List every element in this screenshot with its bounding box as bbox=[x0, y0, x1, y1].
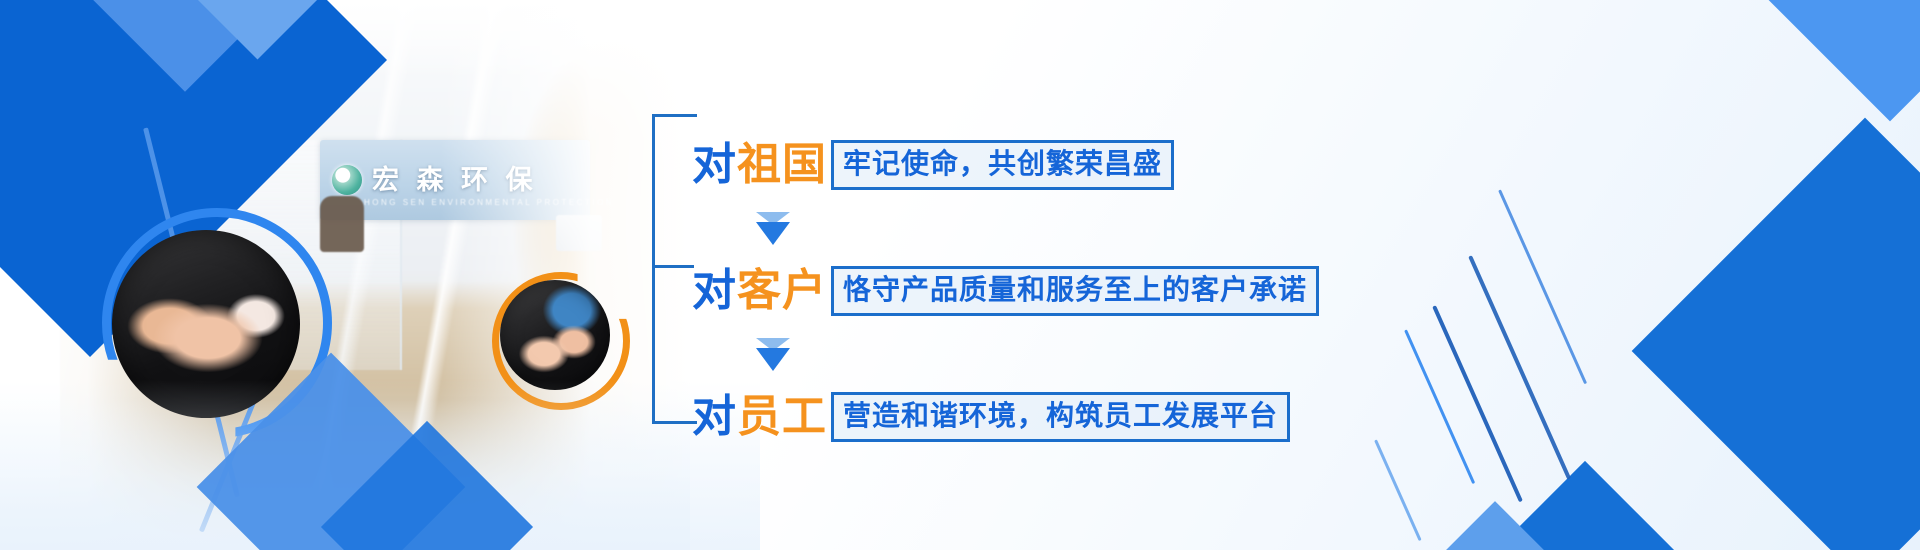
value-prefix-orange: 祖国 bbox=[737, 139, 827, 190]
down-triangle-icon bbox=[756, 348, 790, 371]
value-prefix-orange: 员工 bbox=[737, 391, 827, 442]
values-list: 对祖国 牢记使命，共创繁荣昌盛 对客户 恪守产品质量和服务至上的客户承诺 对员工… bbox=[652, 62, 1852, 492]
staff-silhouette bbox=[320, 196, 364, 252]
value-prefix: 对员工 bbox=[692, 395, 827, 439]
bracket-connector bbox=[652, 114, 697, 424]
value-prefix-blue: 对 bbox=[692, 139, 737, 190]
value-row-country: 对祖国 牢记使命，共创繁荣昌盛 bbox=[692, 140, 1174, 190]
value-prefix: 对客户 bbox=[692, 269, 827, 313]
value-row-customer: 对客户 恪守产品质量和服务至上的客户承诺 bbox=[692, 266, 1319, 316]
value-prefix: 对祖国 bbox=[692, 143, 827, 187]
company-values-banner: 宏 森 环 保 HONG SEN ENVIRONMENTAL PROTECTIO… bbox=[0, 0, 1920, 550]
applause-photo bbox=[500, 280, 610, 390]
bracket-middle-tick bbox=[652, 265, 694, 268]
globe-leaf-logo-icon bbox=[332, 165, 362, 195]
value-row-employee: 对员工 营造和谐环境，构筑员工发展平台 bbox=[692, 392, 1290, 442]
value-statement-chip: 营造和谐环境，构筑员工发展平台 bbox=[831, 392, 1290, 442]
value-statement-chip: 恪守产品质量和服务至上的客户承诺 bbox=[831, 266, 1319, 316]
value-statement-chip: 牢记使命，共创繁荣昌盛 bbox=[831, 140, 1174, 190]
down-triangle-icon bbox=[756, 222, 790, 245]
value-prefix-blue: 对 bbox=[692, 391, 737, 442]
value-prefix-blue: 对 bbox=[692, 265, 737, 316]
value-prefix-orange: 客户 bbox=[737, 265, 827, 316]
